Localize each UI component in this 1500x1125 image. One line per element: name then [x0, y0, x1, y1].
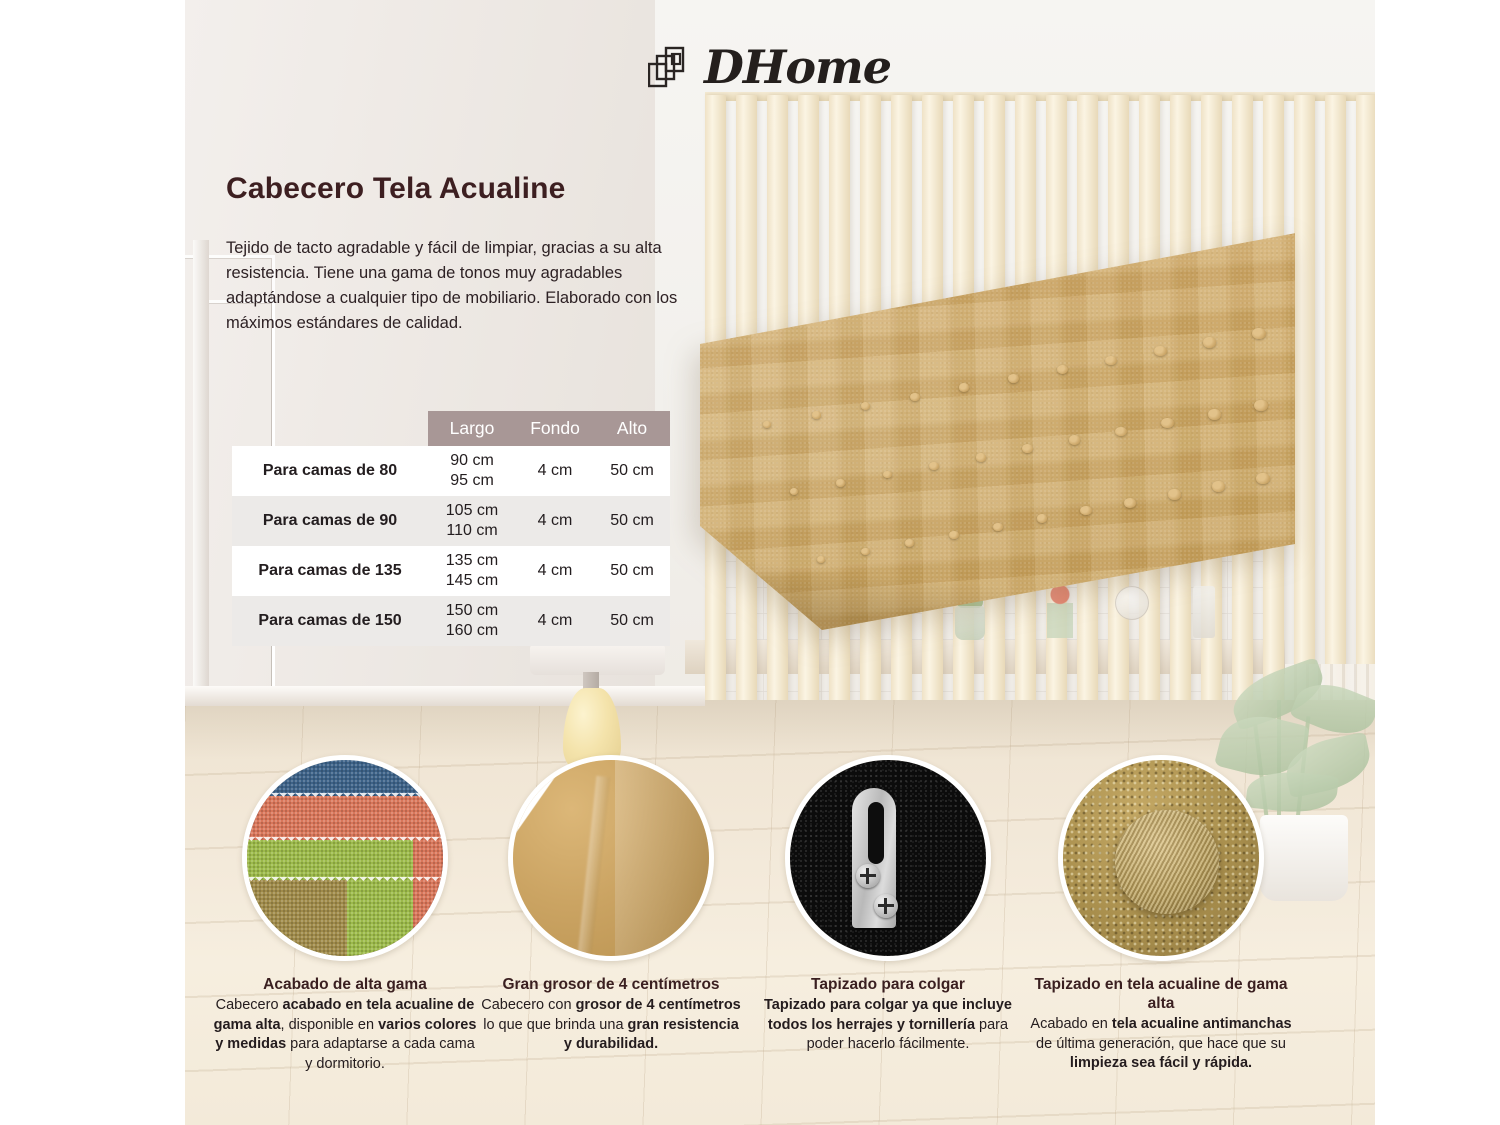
row-largo: 105 cm 110 cm	[428, 496, 516, 546]
largo-max: 145 cm	[428, 571, 516, 591]
tufting-button	[993, 523, 1003, 531]
tufting-button	[763, 421, 771, 428]
fabric-thickness-icon	[508, 755, 714, 961]
upholstered-button-icon	[1058, 755, 1264, 961]
row-alto: 50 cm	[594, 496, 670, 546]
feature-block-2: Gran grosor de 4 centímetros Cabecero co…	[478, 755, 744, 1055]
feature-title: Acabado de alta gama	[212, 975, 478, 994]
table-lamp-shade	[530, 645, 665, 675]
table-row: Para camas de 80 90 cm 95 cm 4 cm 50 cm	[232, 446, 670, 496]
largo-min: 150 cm	[428, 601, 516, 621]
row-fondo: 4 cm	[516, 546, 594, 596]
swatch-zigzag-edge	[242, 877, 448, 884]
product-description: Tejido de tacto agradable y fácil de lim…	[226, 236, 688, 336]
largo-min: 135 cm	[428, 551, 516, 571]
swatch-zigzag-edge	[242, 837, 448, 844]
table-body: Para camas de 80 90 cm 95 cm 4 cm 50 cm …	[232, 446, 670, 646]
tufting-button	[929, 462, 939, 470]
largo-max: 110 cm	[428, 521, 516, 541]
tufting-button	[1208, 409, 1221, 420]
row-largo: 135 cm 145 cm	[428, 546, 516, 596]
skirting-board	[185, 686, 705, 706]
row-fondo: 4 cm	[516, 496, 594, 546]
infographic-page: DHome Cabecero Tela Acualine Tejido de t…	[0, 0, 1500, 1125]
phillips-screw	[856, 864, 880, 888]
tufting-button	[1252, 328, 1266, 339]
swatch-zigzag-edge	[242, 793, 448, 800]
row-alto: 50 cm	[594, 596, 670, 646]
bracket-hanging-slot	[868, 802, 884, 864]
feature-block-3: Tapizado para colgar Tapizado para colga…	[755, 755, 1021, 1055]
row-alto: 50 cm	[594, 546, 670, 596]
largo-min: 105 cm	[428, 501, 516, 521]
fabric-fold	[615, 760, 709, 956]
tufting-button	[1203, 337, 1216, 348]
table-header-fondo: Fondo	[516, 411, 594, 446]
tufting-button	[976, 453, 986, 461]
row-fondo: 4 cm	[516, 446, 594, 496]
wall-bracket-icon	[785, 755, 991, 961]
table-header-row: Largo Fondo Alto	[232, 411, 670, 446]
tufting-button	[1212, 481, 1225, 492]
swatch-khaki	[242, 880, 347, 961]
row-label: Para camas de 150	[232, 596, 428, 646]
tufting-button	[905, 539, 914, 547]
table-row: Para camas de 135 135 cm 145 cm 4 cm 50 …	[232, 546, 670, 596]
largo-max: 95 cm	[428, 471, 516, 491]
row-largo: 90 cm 95 cm	[428, 446, 516, 496]
brand-name: DHome	[704, 40, 891, 94]
table-row: Para camas de 150 150 cm 160 cm 4 cm 50 …	[232, 596, 670, 646]
largo-min: 90 cm	[428, 451, 516, 471]
feature-body: Cabecero acabado en tela acualine de gam…	[212, 996, 478, 1074]
tufting-button	[1256, 473, 1270, 484]
tufting-button	[812, 411, 821, 418]
feature-body: Acabado en tela acualine antimanchas de …	[1028, 1015, 1294, 1074]
table-header-largo: Largo	[428, 411, 516, 446]
phillips-screw	[874, 894, 898, 918]
table-row: Para camas de 90 105 cm 110 cm 4 cm 50 c…	[232, 496, 670, 546]
door-frame-edge	[193, 240, 209, 760]
tufting-button	[959, 383, 969, 391]
row-label: Para camas de 135	[232, 546, 428, 596]
tufting-button	[949, 531, 959, 539]
row-fondo: 4 cm	[516, 596, 594, 646]
row-label: Para camas de 90	[232, 496, 428, 546]
brand-logo: DHome	[648, 40, 891, 94]
tufting-button	[1168, 489, 1181, 499]
upholstered-button	[1115, 810, 1219, 914]
floor-shadow	[185, 700, 1375, 760]
feature-body: Tapizado para colgar ya que incluye todo…	[755, 996, 1021, 1055]
headboard-bottom-edge	[700, 230, 1295, 630]
squares-logo-icon	[648, 42, 692, 92]
tufting-button	[1008, 374, 1019, 383]
tufting-button	[1254, 400, 1268, 411]
table-header-corner	[232, 411, 428, 446]
feature-title: Tapizado en tela acualine de gama alta	[1028, 975, 1294, 1013]
tufting-button	[1069, 435, 1080, 444]
feature-title: Tapizado para colgar	[755, 975, 1021, 994]
feature-body: Cabecero con grosor de 4 centímetros lo …	[478, 996, 744, 1055]
feature-block-1: Acabado de alta gama Cabecero acabado en…	[212, 755, 478, 1074]
size-table: Largo Fondo Alto Para camas de 80 90 cm …	[232, 411, 670, 646]
tufting-button	[910, 393, 920, 401]
table-header-alto: Alto	[594, 411, 670, 446]
page-title: Cabecero Tela Acualine	[226, 172, 566, 206]
largo-max: 160 cm	[428, 621, 516, 641]
tufting-button	[861, 548, 870, 555]
feature-title: Gran grosor de 4 centímetros	[478, 975, 744, 994]
tufting-button	[836, 479, 845, 486]
row-alto: 50 cm	[594, 446, 670, 496]
tufting-button	[817, 556, 825, 563]
row-label: Para camas de 80	[232, 446, 428, 496]
tufting-button	[1124, 498, 1136, 508]
feature-block-4: Tapizado en tela acualine de gama alta A…	[1028, 755, 1294, 1074]
headboard-product-image	[700, 230, 1295, 630]
fabric-swatches-icon	[242, 755, 448, 961]
tufting-button	[1161, 418, 1174, 428]
row-largo: 150 cm 160 cm	[428, 596, 516, 646]
tufting-button	[861, 402, 870, 410]
